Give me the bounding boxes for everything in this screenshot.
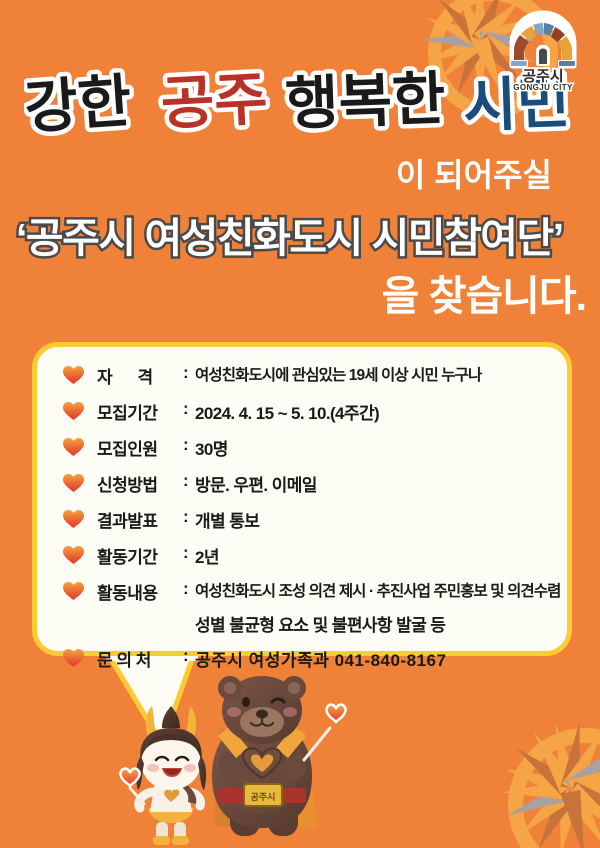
subheadline: 이 되어주실: [396, 150, 552, 196]
info-colon: :: [183, 507, 195, 527]
list-item-continuation: 성별 불균형 요소 및 불편사항 발굴 등: [63, 611, 553, 636]
info-colon: :: [183, 399, 195, 419]
headline-part-2: 행복한: [284, 64, 446, 138]
gongju-girl-mascot: [120, 706, 206, 845]
heart-icon: [63, 646, 97, 668]
mascot-illustration: 공주시: [118, 676, 378, 848]
info-label: 문 의 처: [97, 646, 183, 671]
list-item: 자 격 : 여성친화도시에 관심있는 19세 이상 시민 누구나: [63, 363, 553, 389]
info-label: 활동기간: [97, 543, 183, 568]
heart-icon: [63, 579, 97, 601]
info-value: 개별 통보: [195, 507, 553, 532]
info-colon: :: [183, 543, 195, 563]
info-label: 자 격: [97, 363, 183, 388]
heart-icon: [63, 507, 97, 529]
info-colon: :: [183, 646, 195, 666]
info-label: 신청방법: [97, 471, 183, 496]
list-item: 신청방법 : 방문. 우편. 이메일: [63, 471, 553, 497]
svg-text:공주시: 공주시: [251, 792, 276, 803]
info-value: 여성친화도시 조성 의견 제시 · 추진사업 주민홍보 및 의견수렴: [195, 579, 561, 601]
poster-canvas: 공주시 GONGJU CITY 강한 공주 행복한 시민 이 되어주실 ‘공주시…: [0, 0, 600, 848]
info-value: 여성친화도시에 관심있는 19세 이상 시민 누구나: [195, 363, 553, 385]
list-item: 문 의 처 : 공주시 여성가족과 041-840-8167: [63, 646, 553, 672]
info-value: 방문. 우편. 이메일: [195, 471, 553, 496]
title-line-2: 을 찾습니다.: [382, 262, 586, 322]
info-label: 결과발표: [97, 507, 183, 532]
info-label: 활동내용: [97, 579, 183, 604]
sun-core: [508, 728, 600, 848]
info-value: 2024. 4. 15 ~ 5. 10.(4주간): [195, 399, 553, 424]
info-colon: :: [183, 471, 195, 491]
list-item: 결과발표 : 개별 통보: [63, 507, 553, 533]
info-value: 30명: [195, 435, 553, 460]
info-value-continued: 성별 불균형 요소 및 불편사항 발굴 등: [195, 611, 445, 636]
list-item: 활동기간 : 2년: [63, 543, 553, 569]
list-item: 활동내용 : 여성친화도시 조성 의견 제시 · 추진사업 주민홍보 및 의견수…: [63, 579, 553, 605]
heart-icon: [63, 471, 97, 493]
headline: 강한 공주 행복한 시민: [24, 62, 580, 152]
headline-part-1: 공주: [159, 64, 269, 137]
info-value: 2년: [195, 543, 553, 568]
spacer: [63, 611, 195, 636]
list-item: 모집기간 : 2024. 4. 15 ~ 5. 10.(4주간): [63, 399, 553, 425]
gongju-city-logo: 공주시 GONGJU CITY: [502, 10, 584, 94]
info-colon: :: [183, 435, 195, 455]
info-label: 모집인원: [97, 435, 183, 460]
info-list: 자 격 : 여성친화도시에 관심있는 19세 이상 시민 누구나 모집기간 : …: [63, 363, 553, 682]
heart-icon: [63, 363, 97, 385]
heart-wand-icon: [326, 705, 345, 722]
info-colon: :: [183, 363, 195, 383]
info-value-contact: 공주시 여성가족과 041-840-8167: [195, 646, 553, 671]
list-item: 모집인원 : 30명: [63, 435, 553, 461]
gongju-bear-mascot: 공주시: [212, 676, 346, 836]
headline-part-0: 강한: [24, 67, 133, 142]
title-line-1: ‘공주시 여성친화도시 시민참여단’: [16, 204, 563, 264]
info-label: 모집기간: [97, 399, 183, 424]
heart-icon: [63, 399, 97, 421]
logo-name-en: GONGJU CITY: [513, 83, 573, 92]
heart-icon: [63, 543, 97, 565]
speech-bubble-info-panel: 자 격 : 여성친화도시에 관심있는 19세 이상 시민 누구나 모집기간 : …: [32, 342, 572, 656]
heart-icon: [63, 435, 97, 457]
info-colon: :: [183, 579, 195, 599]
